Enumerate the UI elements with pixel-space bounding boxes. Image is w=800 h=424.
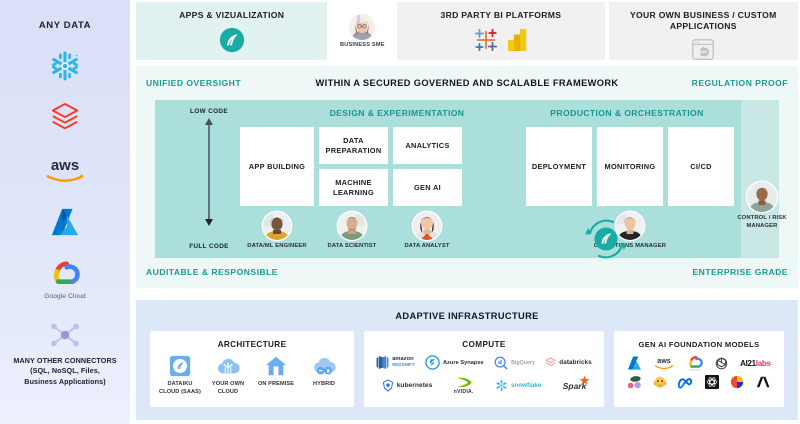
hugging-face-icon[interactable] [653,375,667,389]
cohere-icon[interactable] [627,375,643,389]
compute-item-nvidia[interactable]: nVIDIA. [454,376,474,395]
compute-item-snowflake[interactable]: snowflake [495,379,541,392]
compute-label-bigquery: BigQuery [511,360,535,366]
snowflake-icon [495,379,508,392]
databricks-icon [545,357,556,369]
compute-label-databricks: databricks [559,359,591,366]
kubernetes-icon [382,379,394,392]
sidebar-footer-line-1: MANY OTHER CONNECTORS [2,356,128,366]
compute-item-amazon-redshift[interactable]: amazon REDSHIFT [376,355,414,370]
openai-icon[interactable] [714,356,729,371]
avatar-data-ml-engineer [263,212,291,240]
sidebar-footer-line-2: (SQL, NoSQL, Files, [2,366,128,376]
google-cloud-icon [48,257,82,291]
panel-bi-platforms: 3RD PARTY BI PLATFORMS [397,2,604,60]
persona-data-ml-engineer: DATA/ML ENGINEER [238,212,316,251]
other-connectors-icon [48,318,82,352]
label-unified-oversight: UNIFIED OVERSIGHT [146,78,241,88]
panel-business-sme: BUSINESS SME [331,2,393,60]
any-data-sidebar: ANY DATA [0,0,130,424]
dataiku-cloud-icon [168,354,192,378]
google-cloud-icon[interactable]: Google Cloud [686,355,704,371]
nvidia-icon [455,376,473,389]
code-level-axis: LOW CODE FULL CODE [179,108,239,250]
dataiku-bird-icon [219,27,245,53]
meta-icon[interactable] [677,376,695,389]
arch-item-hybrid[interactable]: HYBRID [301,354,347,396]
anthropic-icon[interactable] [755,375,771,389]
architecture-title: ARCHITECTURE [150,340,354,349]
persona-label-control-risk-manager: CONTROL / RISK MANAGER [736,215,788,231]
infographic-root: ANY DATA [0,0,800,424]
governance-lane [741,100,779,258]
aws-icon[interactable]: aws [653,355,675,371]
sidebar-footer: MANY OTHER CONNECTORS (SQL, NoSQL, Files… [2,356,128,387]
label-enterprise-grade: ENTERPRISE GRADE [692,267,788,277]
compute-item-spark[interactable]: Spark [563,381,587,391]
business-sme-avatar [349,14,375,40]
framework-inner-panel: LOW CODE FULL CODE DESIGN & EXPERIMENTAT… [155,100,741,258]
sidebar-item-other-connectors: MANY OTHER CONNECTORS (SQL, NoSQL, Files… [2,318,128,387]
persona-control-risk-manager: CONTROL / RISK MANAGER [736,182,788,231]
mosaic-icon[interactable] [705,375,719,389]
compute-item-kubernetes[interactable]: kubernetes [382,379,433,392]
sidebar-item-azure [2,205,128,239]
power-bi-icon [507,27,529,53]
business-sme-label: BUSINESS SME [340,42,385,48]
arch-label-hybrid: HYBRID [313,381,335,389]
axis-arrow-icon [203,118,215,240]
architecture-items: DATAIKU CLOUD (SAAS) [150,354,354,396]
svg-text:aws: aws [51,157,79,174]
persona-data-analyst: DATA ANALYST [388,212,466,251]
arch-label-dataiku-cloud: DATAIKU CLOUD (SAAS) [157,381,203,396]
persona-label-data-ml-engineer: DATA/ML ENGINEER [247,243,306,251]
card-cicd[interactable]: CI/CD [668,127,734,206]
panel-bi-title: 3RD PARTY BI PLATFORMS [441,10,562,21]
persona-label-data-analyst: DATA ANALYST [404,243,449,251]
amazon-redshift-icon [376,355,389,370]
panel-architecture: ARCHITECTURE DATAIKU CLOUD (SAAS) [150,331,354,407]
label-regulation-proof: REGULATION PROOF [692,78,788,88]
persona-label-data-scientist: DATA SCIENTIST [327,243,376,251]
google-cloud-label: Google Cloud [44,293,86,300]
compute-row-1: amazon REDSHIFT Azure Synapse [364,355,604,370]
axis-label-full-code: FULL CODE [189,243,229,250]
azure-icon[interactable] [627,355,642,371]
card-machine-learning[interactable]: MACHINE LEARNING [319,169,388,206]
dataiku-loop-icon [583,216,629,262]
panel-gen-ai-models: GEN AI FOUNDATION MODELS aws [614,331,784,407]
card-gen-ai[interactable]: GEN AI [393,169,462,206]
gen-ai-title: GEN AI FOUNDATION MODELS [614,340,784,349]
panel-custom-applications: YOUR OWN BUSINESS / CUSTOM APPLICATIONS … [609,2,798,60]
azure-synapse-icon [425,355,440,370]
compute-item-azure-synapse[interactable]: Azure Synapse [425,355,484,370]
card-monitoring[interactable]: MONITORING [597,127,663,206]
compute-item-databricks[interactable]: databricks [545,357,591,369]
api-icon: API [690,37,716,63]
compute-label-kubernetes: kubernetes [397,382,433,389]
snowflake-icon [48,49,82,83]
sidebar-item-aws: aws [2,153,128,187]
svg-text:aws: aws [657,356,671,365]
section-title-production: PRODUCTION & ORCHESTRATION [519,108,735,118]
ai21labs-icon[interactable]: AI21labs [740,359,771,368]
aws-icon: aws [41,153,89,187]
hybrid-icon [311,354,337,378]
sidebar-footer-line-3: Business Applications) [2,377,128,387]
arch-item-dataiku-cloud[interactable]: DATAIKU CLOUD (SAAS) [157,354,203,396]
compute-label-nvidia: nVIDIA. [454,389,474,395]
top-panels-row: APPS & VIZUALIZATION [136,2,798,60]
avatar-control-risk-manager [747,182,777,212]
bi-logos [473,27,529,53]
gen-ai-row-1: aws Google Cloud [614,355,784,371]
avatar-data-scientist [338,212,366,240]
card-deployment[interactable]: DEPLOYMENT [526,127,592,206]
sidebar-item-snowflake [2,49,128,83]
compute-label-azure-synapse: Azure Synapse [443,360,484,366]
card-app-building[interactable]: APP BUILDING [240,127,314,206]
compute-label-snowflake: snowflake [511,382,541,389]
arch-label-on-premise: ON PREMISE [258,381,294,389]
panel-custom-title: YOUR OWN BUSINESS / CUSTOM APPLICATIONS [609,10,798,31]
sidebar-item-databricks [2,101,128,135]
tableau-icon [473,27,499,53]
infrastructure-title: ADAPTIVE INFRASTRUCTURE [136,311,798,321]
svg-text:Google Cloud: Google Cloud [689,369,700,371]
axis-label-low-code: LOW CODE [190,108,228,115]
arch-item-on-premise[interactable]: ON PREMISE [253,354,299,396]
panel-apps-visualization: APPS & VIZUALIZATION [136,2,327,60]
panel-apps-title: APPS & VIZUALIZATION [179,10,284,21]
databricks-icon [50,101,80,135]
azure-icon [50,205,80,239]
compute-row-2: kubernetes nVIDIA. [364,376,604,395]
svg-text:API: API [699,50,707,55]
panel-compute: COMPUTE amazon REDSHIFT [364,331,604,407]
persona-data-scientist: DATA SCIENTIST [313,212,391,251]
bigquery-icon [494,356,508,370]
card-analytics[interactable]: ANALYTICS [393,127,462,164]
compute-title: COMPUTE [364,340,604,349]
sidebar-title: ANY DATA [39,20,91,31]
spark-icon [579,375,590,386]
infrastructure-band: ADAPTIVE INFRASTRUCTURE ARCHITECTURE DAT… [136,300,798,420]
on-premise-icon [264,354,288,378]
framework-band: WITHIN A SECURED GOVERNED AND SCALABLE F… [136,66,798,288]
arch-label-your-own-cloud: YOUR OWN CLOUD [205,381,251,396]
avatar-data-analyst [413,212,441,240]
compute-item-bigquery[interactable]: BigQuery [494,356,535,370]
sidebar-item-google-cloud: Google Cloud [2,257,128,300]
section-title-design: DESIGN & EXPERIMENTATION [287,108,507,118]
label-auditable-responsible: AUDITABLE & RESPONSIBLE [146,267,278,277]
card-data-preparation[interactable]: DATA PREPARATION [319,127,388,164]
arch-item-your-own-cloud[interactable]: YOUR OWN CLOUD [205,354,251,396]
your-own-cloud-icon [215,354,241,378]
compute-sublabel-redshift: REDSHIFT [392,363,414,367]
gen-ai-row-2 [614,375,784,389]
mistral-icon[interactable] [729,375,745,389]
